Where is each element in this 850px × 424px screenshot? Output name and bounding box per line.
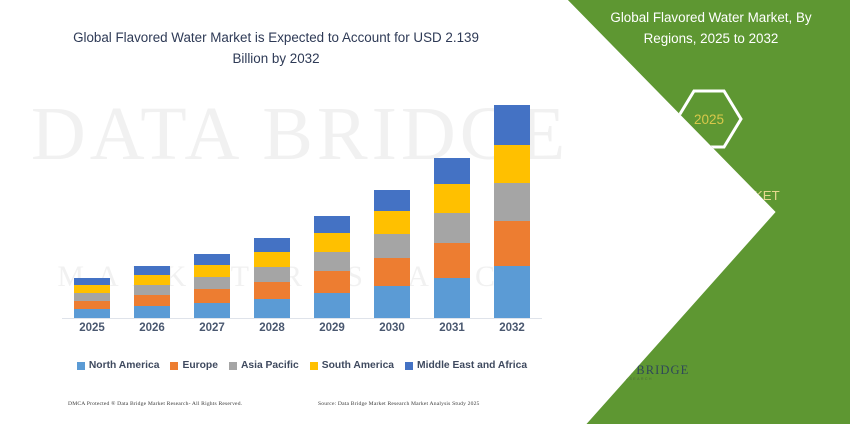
- bar-segment[interactable]: [374, 286, 410, 318]
- x-axis-label-2026: 2026: [122, 322, 182, 334]
- bar-segment[interactable]: [314, 216, 350, 233]
- legend-label: Middle East and Africa: [417, 360, 527, 371]
- bar-segment[interactable]: [74, 293, 110, 301]
- bar-segment[interactable]: [374, 190, 410, 211]
- bar-segment[interactable]: [254, 252, 290, 267]
- x-axis-label-2028: 2028: [242, 322, 302, 334]
- x-axis-label-2029: 2029: [302, 322, 362, 334]
- bar-segment[interactable]: [374, 258, 410, 286]
- logo-name: DATA BRIDGE: [596, 364, 689, 377]
- bar-segment[interactable]: [194, 254, 230, 265]
- bar-segment[interactable]: [434, 213, 470, 243]
- bar-segment[interactable]: [74, 301, 110, 309]
- bar-column-2026[interactable]: [134, 266, 170, 318]
- bar-segment[interactable]: [254, 238, 290, 252]
- bar-chart-plot: [62, 96, 542, 318]
- legend-swatch-icon: [229, 362, 237, 370]
- bar-segment[interactable]: [134, 285, 170, 295]
- bar-segment[interactable]: [134, 275, 170, 285]
- brand-name-text: DATA BRIDGE MARKET RESEARCH: [602, 186, 812, 227]
- bar-segment[interactable]: [434, 158, 470, 184]
- chart-panel: Global Flavored Water Market is Expected…: [0, 0, 600, 424]
- bar-segment[interactable]: [494, 105, 530, 145]
- bar-segment[interactable]: [314, 293, 350, 318]
- bar-segment[interactable]: [134, 295, 170, 306]
- bar-segment[interactable]: [74, 285, 110, 293]
- x-axis-label-2027: 2027: [182, 322, 242, 334]
- panel-title: Global Flavored Water Market, By Regions…: [586, 8, 836, 50]
- x-axis-line: [62, 318, 542, 319]
- x-axis-label-2031: 2031: [422, 322, 482, 334]
- bar-column-2030[interactable]: [374, 190, 410, 318]
- bar-segment[interactable]: [194, 303, 230, 318]
- legend-label: Asia Pacific: [241, 360, 299, 371]
- bar-segment[interactable]: [254, 267, 290, 282]
- bar-segment[interactable]: [494, 145, 530, 183]
- bar-column-2032[interactable]: [494, 105, 530, 318]
- chart-title: Global Flavored Water Market is Expected…: [56, 28, 496, 70]
- bar-segment[interactable]: [194, 277, 230, 289]
- bar-segment[interactable]: [314, 233, 350, 252]
- x-axis-label-2030: 2030: [362, 322, 422, 334]
- hexagon-group: 2032 2025: [618, 88, 798, 168]
- copyright-notice: DMCA Protected ® Data Bridge Market Rese…: [68, 401, 242, 407]
- logo-wordmark: DATA BRIDGE MARKET RESEARCH: [596, 364, 689, 382]
- source-notice: Source: Data Bridge Market Research Mark…: [318, 401, 480, 407]
- bar-column-2029[interactable]: [314, 216, 350, 318]
- bar-segment[interactable]: [194, 289, 230, 303]
- x-axis-label-2032: 2032: [482, 322, 542, 334]
- bar-segment[interactable]: [494, 266, 530, 318]
- bar-segment[interactable]: [374, 211, 410, 234]
- legend-label: South America: [322, 360, 394, 371]
- bar-segment[interactable]: [134, 266, 170, 275]
- bar-segment[interactable]: [194, 265, 230, 277]
- x-axis-label-2025: 2025: [62, 322, 122, 334]
- legend-label: North America: [89, 360, 160, 371]
- bar-segment[interactable]: [74, 309, 110, 318]
- bar-segment[interactable]: [254, 299, 290, 318]
- bar-column-2027[interactable]: [194, 254, 230, 318]
- legend-swatch-icon: [170, 362, 178, 370]
- bar-segment[interactable]: [374, 234, 410, 258]
- bar-segment[interactable]: [434, 184, 470, 213]
- legend-item-north-america[interactable]: North America: [77, 360, 160, 371]
- legend-label: Europe: [182, 360, 217, 371]
- x-axis-tick-labels: 20252026202720282029203020312032: [62, 322, 542, 342]
- legend-swatch-icon: [405, 362, 413, 370]
- legend-item-south-america[interactable]: South America: [310, 360, 394, 371]
- bar-segment[interactable]: [494, 183, 530, 221]
- hexagon-2025: 2025: [674, 88, 744, 150]
- bar-segment[interactable]: [434, 243, 470, 278]
- bar-column-2028[interactable]: [254, 238, 290, 318]
- bar-column-2025[interactable]: [74, 278, 110, 318]
- legend-item-europe[interactable]: Europe: [170, 360, 217, 371]
- hexagon-label: 2025: [694, 112, 724, 127]
- legend-swatch-icon: [77, 362, 85, 370]
- bar-segment[interactable]: [254, 282, 290, 299]
- infographic-canvas: DATA BRIDGE MARKET RESEARCH Global Flavo…: [0, 0, 850, 424]
- legend-swatch-icon: [310, 362, 318, 370]
- chart-legend: North AmericaEuropeAsia PacificSouth Ame…: [62, 360, 542, 371]
- legend-item-asia-pacific[interactable]: Asia Pacific: [229, 360, 299, 371]
- bar-column-2031[interactable]: [434, 158, 470, 318]
- hexagon-label: 2032: [644, 139, 674, 154]
- bar-segment[interactable]: [314, 252, 350, 271]
- logo-tagline: MARKET RESEARCH: [596, 378, 689, 382]
- bar-segment[interactable]: [494, 221, 530, 266]
- bar-segment[interactable]: [314, 271, 350, 293]
- legend-item-middle-east-and-africa[interactable]: Middle East and Africa: [405, 360, 527, 371]
- bar-segment[interactable]: [434, 278, 470, 318]
- bar-segment[interactable]: [134, 306, 170, 318]
- bar-segment[interactable]: [74, 278, 110, 285]
